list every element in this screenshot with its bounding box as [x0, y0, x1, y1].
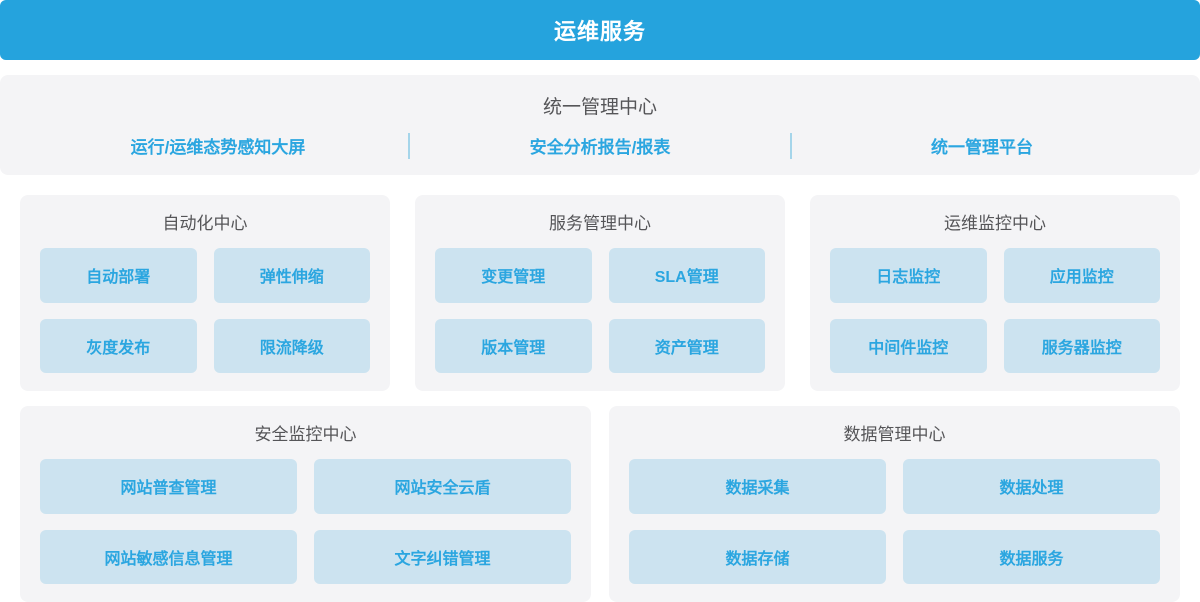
tile-middleware-monitoring[interactable]: 中间件监控: [830, 319, 987, 374]
vertical-divider-icon: [790, 133, 792, 159]
tile-version-management[interactable]: 版本管理: [435, 319, 592, 374]
tile-data-collection[interactable]: 数据采集: [629, 459, 886, 514]
panel-data-management-center: 数据管理中心 数据采集 数据处理 数据存储 数据服务: [609, 406, 1180, 602]
tile-sla-management[interactable]: SLA管理: [609, 248, 766, 303]
unified-management-center-section: 统一管理中心 运行/运维态势感知大屏 安全分析报告/报表 统一管理平台: [0, 75, 1200, 175]
tile-data-storage[interactable]: 数据存储: [629, 530, 886, 585]
panel-title: 数据管理中心: [629, 420, 1160, 445]
unified-management-center-title: 统一管理中心: [543, 92, 657, 119]
tile-website-census-management[interactable]: 网站普查管理: [40, 459, 297, 514]
panel-title: 安全监控中心: [40, 420, 571, 445]
tile-data-service[interactable]: 数据服务: [903, 530, 1160, 585]
tile-website-sensitive-info-management[interactable]: 网站敏感信息管理: [40, 530, 297, 585]
tile-grid: 数据采集 数据处理 数据存储 数据服务: [629, 459, 1160, 584]
tile-server-monitoring[interactable]: 服务器监控: [1004, 319, 1161, 374]
panel-automation-center: 自动化中心 自动部署 弹性伸缩 灰度发布 限流降级: [20, 195, 390, 391]
tile-text-proofreading-management[interactable]: 文字纠错管理: [314, 530, 571, 585]
panel-title: 自动化中心: [40, 209, 370, 234]
tile-asset-management[interactable]: 资产管理: [609, 319, 766, 374]
upper-panel-row: 自动化中心 自动部署 弹性伸缩 灰度发布 限流降级 服务管理中心 变更管理 SL…: [20, 195, 1180, 391]
mgmt-link-dashboard[interactable]: 运行/运维态势感知大屏: [88, 133, 348, 158]
tile-auto-deploy[interactable]: 自动部署: [40, 248, 197, 303]
panel-ops-monitoring-center: 运维监控中心 日志监控 应用监控 中间件监控 服务器监控: [810, 195, 1180, 391]
page-title: 运维服务: [554, 14, 646, 46]
tile-application-monitoring[interactable]: 应用监控: [1004, 248, 1161, 303]
architecture-diagram: 运维服务 统一管理中心 运行/运维态势感知大屏 安全分析报告/报表 统一管理平台…: [0, 0, 1200, 602]
mgmt-link-security-report[interactable]: 安全分析报告/报表: [470, 133, 730, 158]
tile-rate-limit-degrade[interactable]: 限流降级: [214, 319, 371, 374]
tile-log-monitoring[interactable]: 日志监控: [830, 248, 987, 303]
tile-elastic-scaling[interactable]: 弹性伸缩: [214, 248, 371, 303]
tile-data-processing[interactable]: 数据处理: [903, 459, 1160, 514]
tile-grid: 日志监控 应用监控 中间件监控 服务器监控: [830, 248, 1160, 373]
panel-security-monitoring-center: 安全监控中心 网站普查管理 网站安全云盾 网站敏感信息管理 文字纠错管理: [20, 406, 591, 602]
panel-title: 运维监控中心: [830, 209, 1160, 234]
vertical-divider-icon: [408, 133, 410, 159]
unified-management-center-links: 运行/运维态势感知大屏 安全分析报告/报表 统一管理平台: [0, 133, 1200, 159]
tile-website-security-cloud-shield[interactable]: 网站安全云盾: [314, 459, 571, 514]
tile-change-management[interactable]: 变更管理: [435, 248, 592, 303]
tile-grid: 自动部署 弹性伸缩 灰度发布 限流降级: [40, 248, 370, 373]
lower-panel-row: 安全监控中心 网站普查管理 网站安全云盾 网站敏感信息管理 文字纠错管理 数据管…: [20, 406, 1180, 602]
header-bar: 运维服务: [0, 0, 1200, 60]
panel-service-management-center: 服务管理中心 变更管理 SLA管理 版本管理 资产管理: [415, 195, 785, 391]
panel-title: 服务管理中心: [435, 209, 765, 234]
tile-grid: 网站普查管理 网站安全云盾 网站敏感信息管理 文字纠错管理: [40, 459, 571, 584]
tile-gray-release[interactable]: 灰度发布: [40, 319, 197, 374]
tile-grid: 变更管理 SLA管理 版本管理 资产管理: [435, 248, 765, 373]
mgmt-link-unified-platform[interactable]: 统一管理平台: [852, 133, 1112, 158]
